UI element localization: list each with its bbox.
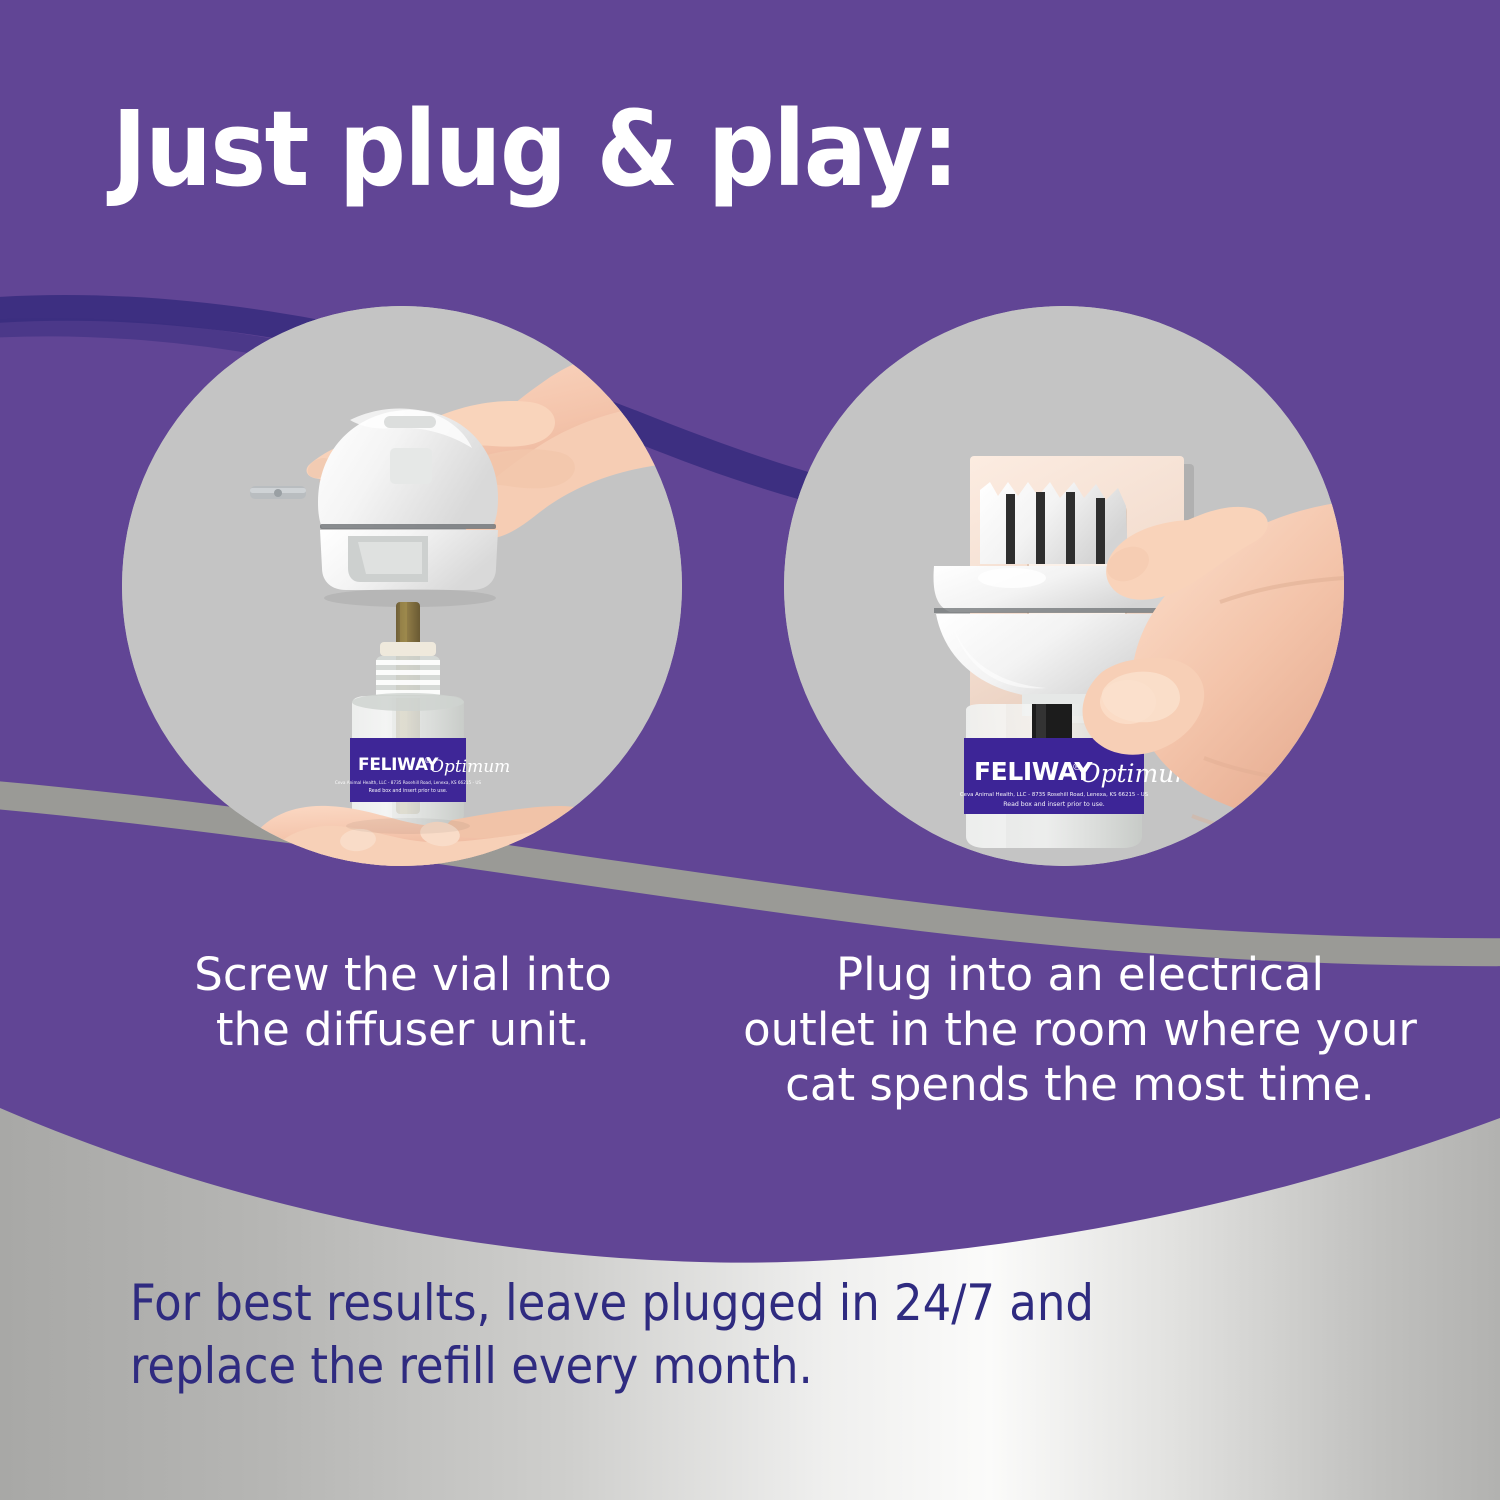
photo-circle-mask-right: FELIWAY ® Optimum Ceva Animal Health, LL… [784,306,1344,866]
photo-circle-right: FELIWAY ® Optimum Ceva Animal Health, LL… [784,306,1344,866]
photo-circle-left: FELIWAY ® Optimum Ceva Animal Health, LL… [122,306,682,866]
caption-plug-in: Plug into an electrical outlet in the ro… [700,948,1460,1113]
svg-text:Optimum: Optimum [430,757,510,777]
infographic-root: Just plug & play: [0,0,1500,1500]
caption-line: the diffuser unit. [118,1003,688,1058]
caption-line: Plug into an electrical [700,948,1460,1003]
photo-circle-mask-left: FELIWAY ® Optimum Ceva Animal Health, LL… [122,306,682,866]
step-card-plug-in: FELIWAY ® Optimum Ceva Animal Health, LL… [784,306,1344,866]
svg-text:Ceva Animal Health, LLC - 8735: Ceva Animal Health, LLC - 8735 Rosehill … [335,780,482,785]
caption-line: Screw the vial into [118,948,688,1003]
footer-note-line: replace the refill every month. [130,1335,1390,1398]
footer-note: For best results, leave plugged in 24/7 … [130,1272,1390,1398]
illustration-hand-plugging-diffuser-into-outlet: FELIWAY ® Optimum Ceva Animal Health, LL… [784,306,1344,866]
svg-text:Read box and insert prior to u: Read box and insert prior to use. [369,788,448,794]
illustration-hand-holding-diffuser-over-vial: FELIWAY ® Optimum Ceva Animal Health, LL… [122,306,682,866]
vial-thread [376,656,440,698]
caption-line: outlet in the room where your [700,1003,1460,1058]
footer-note-line: For best results, leave plugged in 24/7 … [130,1272,1390,1335]
step-card-screw-vial: FELIWAY ® Optimum Ceva Animal Health, LL… [122,306,682,866]
svg-text:Read box and insert prior to u: Read box and insert prior to use. [1003,801,1104,808]
caption-line: cat spends the most time. [700,1058,1460,1113]
page-title: Just plug & play: [112,96,1212,202]
caption-screw-vial: Screw the vial into the diffuser unit. [118,948,688,1058]
svg-text:Ceva Animal Health, LLC - 8735: Ceva Animal Health, LLC - 8735 Rosehill … [960,792,1149,798]
